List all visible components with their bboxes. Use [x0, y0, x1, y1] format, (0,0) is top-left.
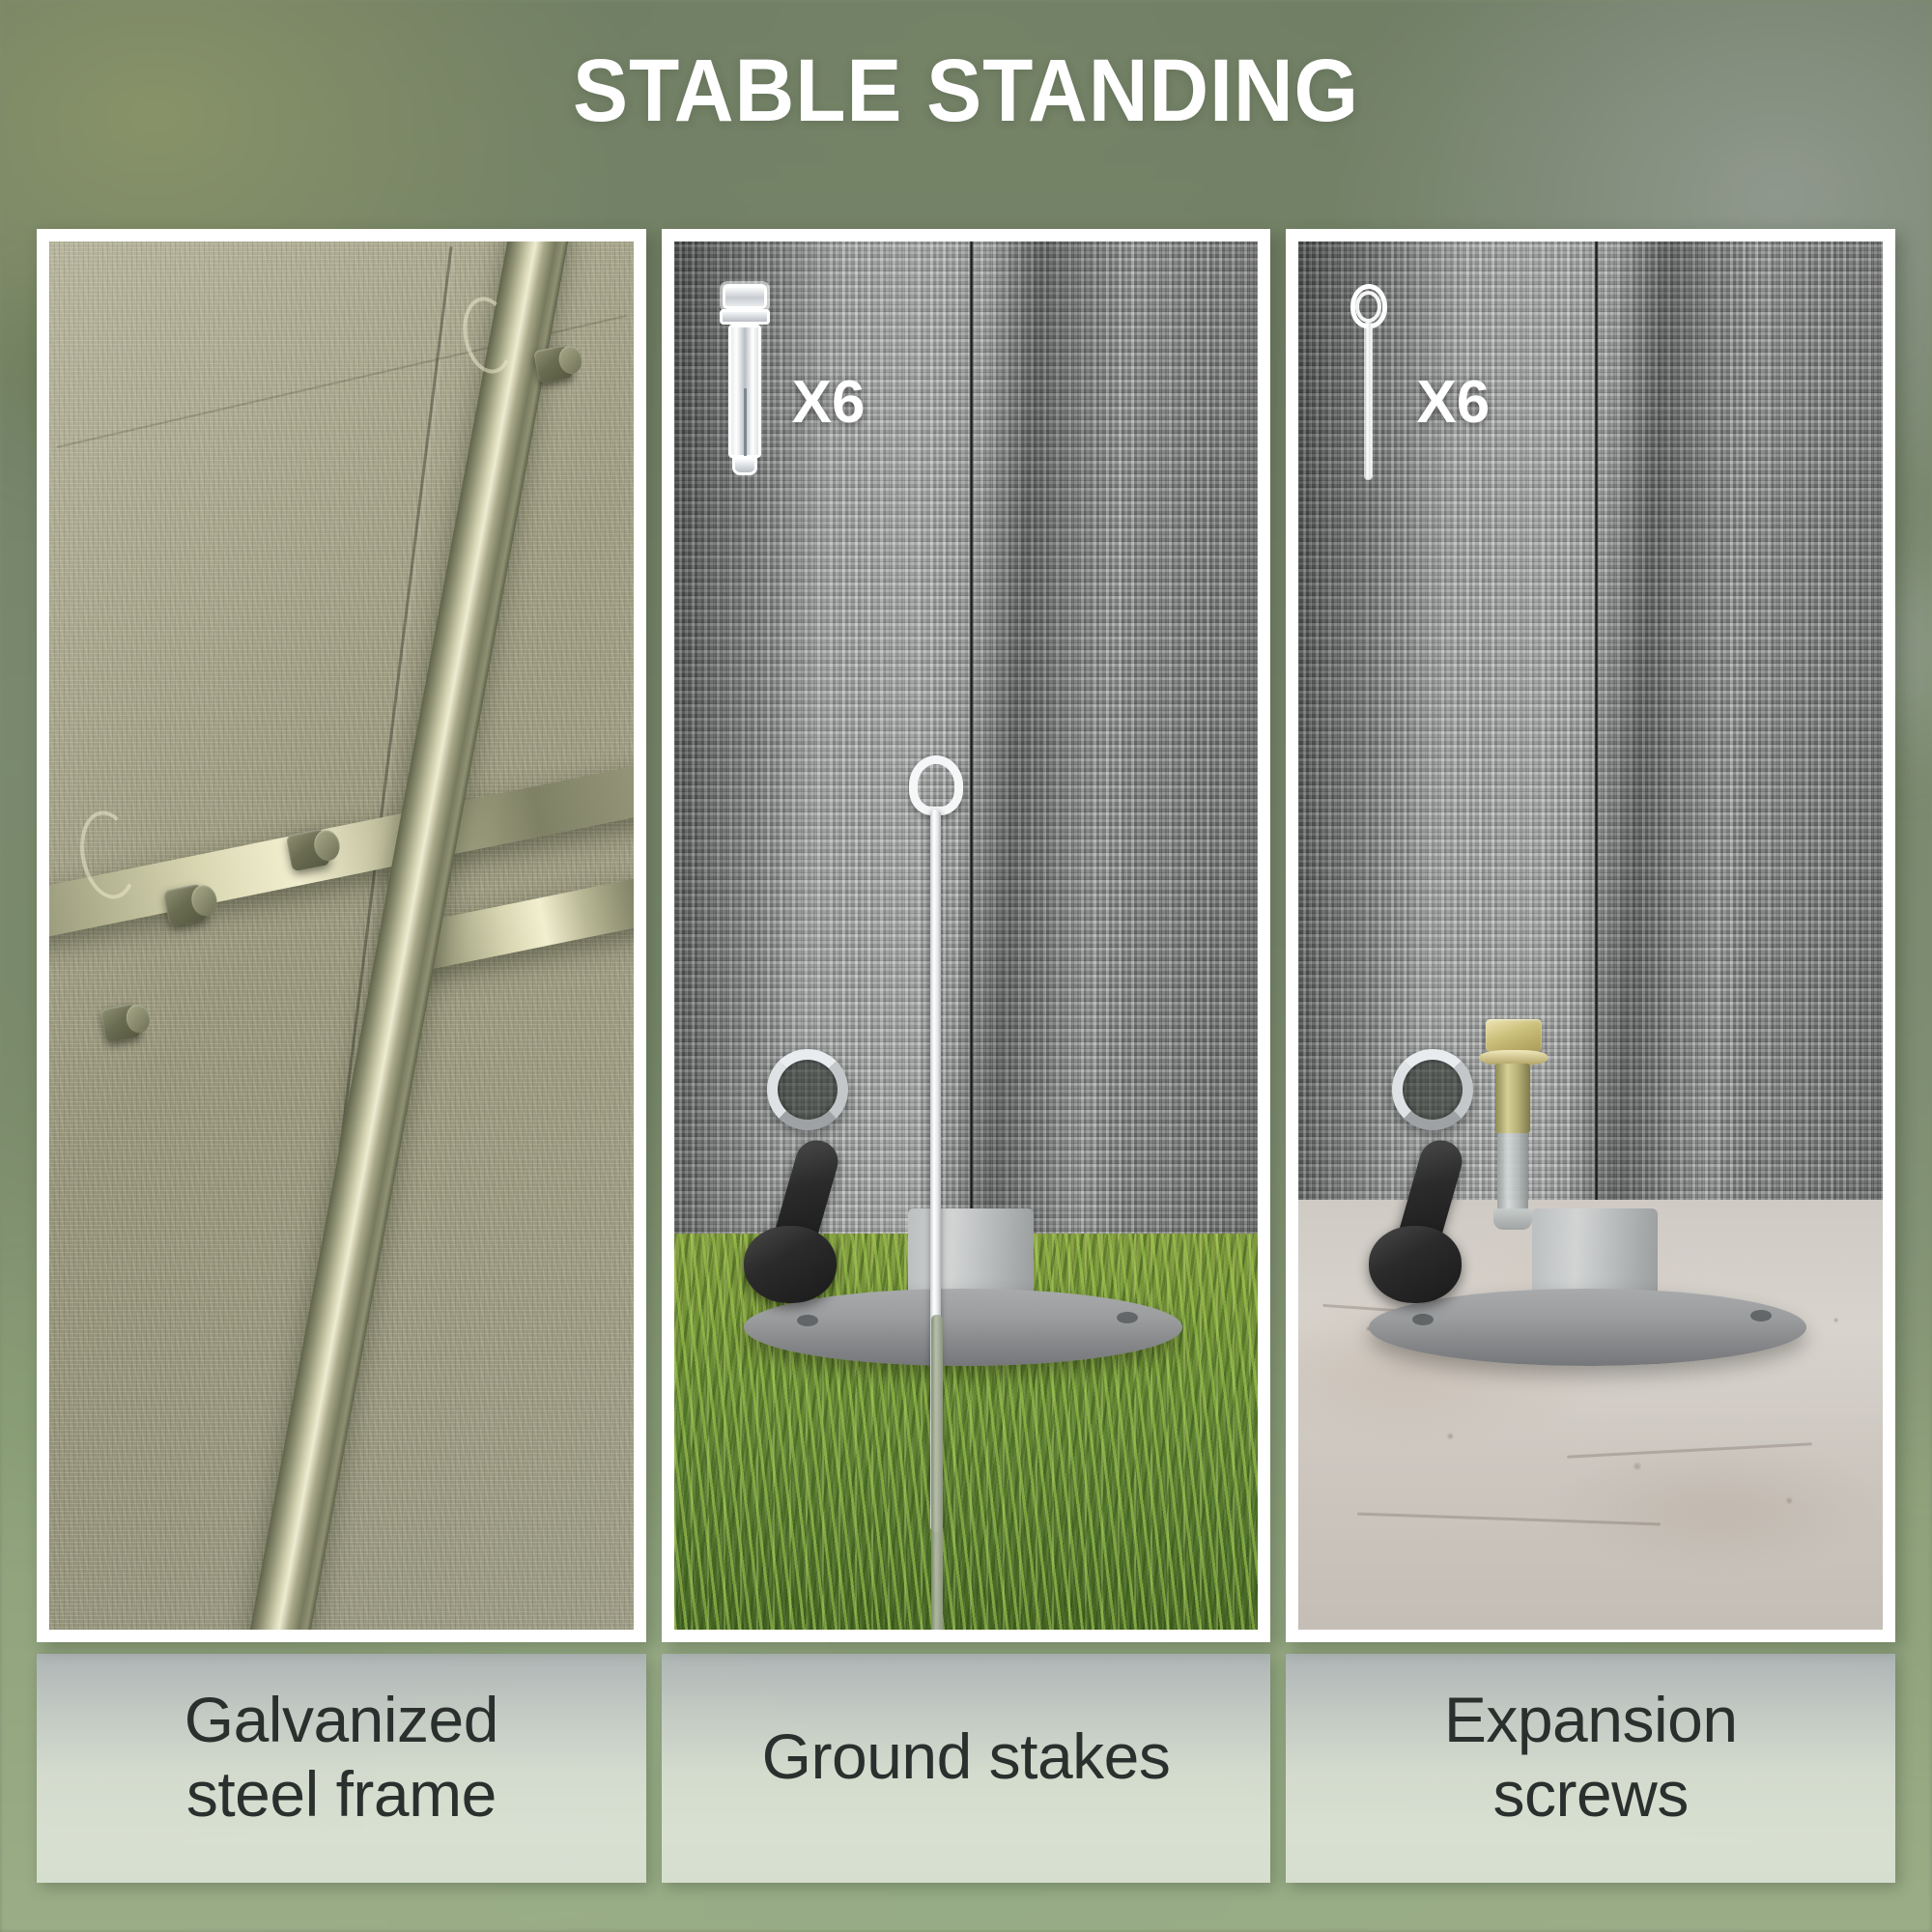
feature-panel-galvanized-steel-frame: Galvanized steel frame [37, 229, 646, 1883]
feature-panel-grid: Galvanized steel frame [37, 229, 1895, 1883]
photo-frame-1 [37, 229, 646, 1642]
paving-crack [1357, 1513, 1661, 1526]
frame-bolt [163, 884, 209, 927]
expansion-screw-installed [1480, 1019, 1548, 1435]
frame-bolt [286, 828, 331, 871]
page-title: STABLE STANDING [68, 46, 1864, 135]
ground-stake-installed [901, 755, 969, 1533]
frame-bolt [533, 345, 574, 384]
photo-galvanized-steel-frame [49, 241, 634, 1630]
plate-hole [1117, 1312, 1138, 1323]
metal-grommet [1392, 1049, 1473, 1130]
stake-eye-loop [909, 755, 963, 815]
plate-hole [797, 1315, 818, 1326]
hardware-badge-3: X6 [1343, 284, 1490, 477]
hardware-count-label: X6 [1416, 368, 1490, 437]
plate-hole [1412, 1314, 1434, 1325]
frame-bolt [100, 1004, 142, 1043]
tie-down-strap-pad [744, 1226, 837, 1303]
hardware-badge-2: X6 [719, 284, 866, 477]
tie-down-strap-pad [1369, 1226, 1462, 1303]
stake-rod-buried [931, 1315, 943, 1630]
photo-frame-2: X6 [662, 229, 1271, 1642]
caption-panel-2: Ground stakes [662, 1654, 1271, 1883]
expansion-anchor-bolt-icon [719, 284, 771, 477]
bolt-tip [1493, 1208, 1532, 1230]
paving-crack [1568, 1442, 1813, 1458]
bolt-head [1486, 1019, 1542, 1052]
caption-label: Galvanized steel frame [185, 1683, 498, 1831]
photo-frame-3: X6 [1286, 229, 1895, 1642]
caption-panel-3: Expansion screws [1286, 1654, 1895, 1883]
caption-panel-1: Galvanized steel frame [37, 1654, 646, 1883]
plate-hole [1750, 1310, 1772, 1321]
feature-panel-ground-stakes: X6 Ground stakes [662, 229, 1271, 1883]
caption-label: Expansion screws [1444, 1683, 1738, 1831]
bolt-sleeve [1495, 1064, 1530, 1133]
hardware-count-label: X6 [792, 368, 866, 437]
caption-label: Ground stakes [762, 1719, 1171, 1794]
base-plate [1369, 1289, 1807, 1366]
eye-loop-stake-icon [1343, 284, 1395, 477]
feature-panel-expansion-screws: X6 Expansion screws [1286, 229, 1895, 1883]
metal-grommet [767, 1049, 848, 1130]
photo-ground-stakes: X6 [674, 241, 1259, 1630]
photo-expansion-screws: X6 [1298, 241, 1883, 1630]
bolt-sleeve-buried [1497, 1133, 1528, 1210]
